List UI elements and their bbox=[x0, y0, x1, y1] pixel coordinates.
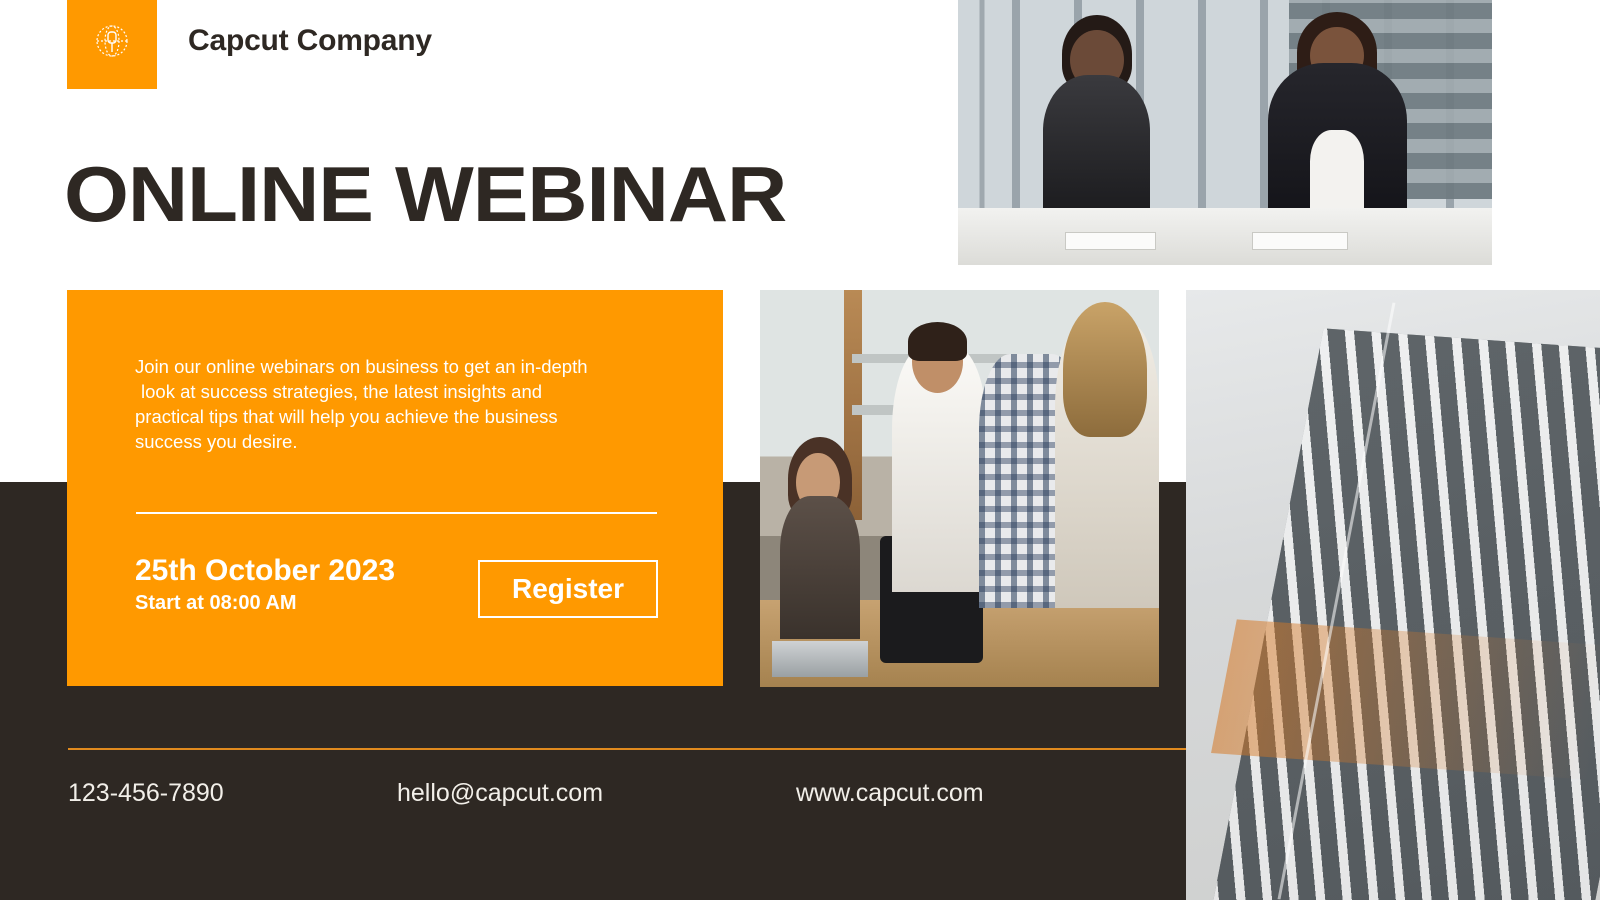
description-line: practical tips that will help you achiev… bbox=[135, 404, 675, 429]
panel-description: Join our online webinars on business to … bbox=[135, 354, 675, 454]
photo-team-collaboration bbox=[760, 290, 1159, 687]
contact-website[interactable]: www.capcut.com bbox=[796, 779, 984, 808]
person-hair bbox=[908, 322, 968, 362]
notepad bbox=[1065, 232, 1156, 250]
page-title: ONLINE WEBINAR bbox=[64, 152, 786, 236]
event-date: 25th October 2023 bbox=[135, 554, 395, 588]
info-panel: Join our online webinars on business to … bbox=[67, 290, 723, 686]
description-line: look at success strategies, the latest i… bbox=[135, 379, 675, 404]
notepad bbox=[1252, 232, 1348, 250]
footer-divider bbox=[68, 748, 1186, 750]
description-line: success you desire. bbox=[135, 429, 675, 454]
contact-email[interactable]: hello@capcut.com bbox=[397, 779, 603, 808]
contact-phone[interactable]: 123-456-7890 bbox=[68, 779, 224, 808]
logo-tile bbox=[67, 0, 157, 89]
register-button[interactable]: Register bbox=[478, 560, 658, 618]
person-hair bbox=[1063, 302, 1147, 437]
person-shirt bbox=[1310, 130, 1363, 208]
brand-name: Capcut Company bbox=[188, 24, 432, 58]
laptop bbox=[772, 641, 868, 677]
person-body bbox=[780, 496, 860, 639]
event-time: Start at 08:00 AM bbox=[135, 592, 297, 615]
globe-icon bbox=[90, 19, 134, 63]
meeting-table bbox=[958, 208, 1492, 265]
photo-skyscraper bbox=[1186, 290, 1600, 900]
panel-divider bbox=[136, 512, 657, 514]
tower-sun-glow bbox=[1211, 620, 1600, 780]
photo-office-meeting bbox=[958, 0, 1492, 265]
person-body bbox=[1043, 75, 1150, 207]
description-line: Join our online webinars on business to … bbox=[135, 354, 675, 379]
webinar-poster: Capcut Company ONLINE WEBINAR Join our o… bbox=[0, 0, 1600, 900]
